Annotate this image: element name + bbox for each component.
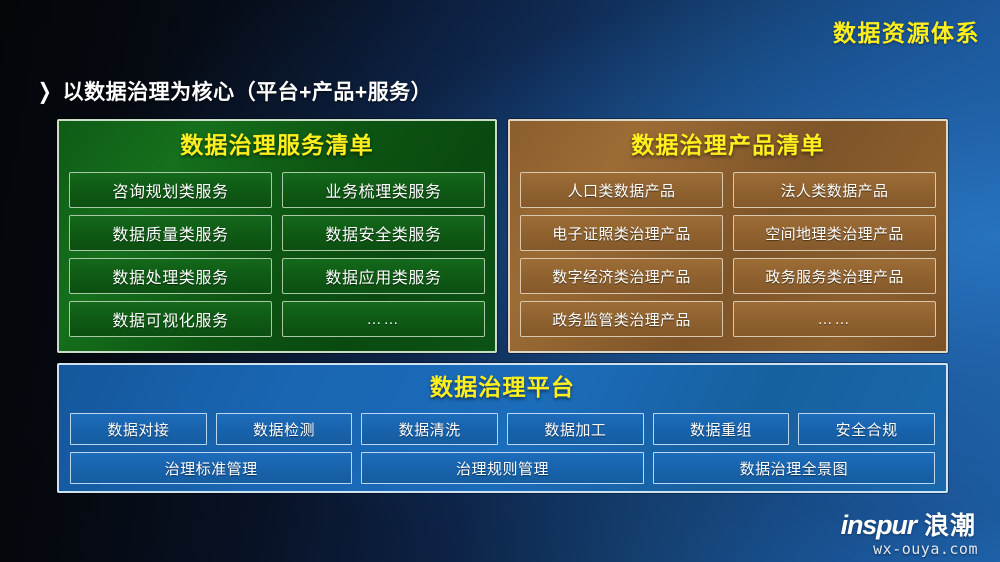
panel-platform-title: 数据治理平台: [59, 376, 946, 399]
product-item[interactable]: 空间地理类治理产品: [733, 215, 936, 251]
inspur-logo: inspur 浪潮: [841, 506, 976, 542]
watermark: wx-ouya.com: [873, 540, 978, 558]
service-item-more[interactable]: ……: [282, 301, 485, 337]
subtitle: ❯ 以数据治理为核心（平台+产品+服务）: [36, 76, 432, 106]
logo-wordmark: inspur: [841, 510, 916, 541]
service-item[interactable]: 业务梳理类服务: [282, 172, 485, 208]
product-item[interactable]: 人口类数据产品: [520, 172, 723, 208]
subtitle-label: 以数据治理为核心（平台+产品+服务）: [63, 76, 433, 106]
service-item[interactable]: 数据处理类服务: [69, 258, 272, 294]
panel-platform: 数据治理平台 数据对接 数据检测 数据清洗 数据加工 数据重组 安全合规 治理标…: [57, 363, 948, 493]
service-item[interactable]: 咨询规划类服务: [69, 172, 272, 208]
product-item[interactable]: 政务服务类治理产品: [733, 258, 936, 294]
platform-capability-item[interactable]: 数据清洗: [361, 413, 498, 445]
platform-management-item[interactable]: 治理标准管理: [70, 452, 352, 484]
service-item-grid: 咨询规划类服务 业务梳理类服务 数据质量类服务 数据安全类服务 数据处理类服务 …: [69, 172, 485, 337]
product-item[interactable]: 法人类数据产品: [733, 172, 936, 208]
panel-service-title: 数据治理服务清单: [59, 134, 495, 157]
product-item[interactable]: 电子证照类治理产品: [520, 215, 723, 251]
platform-capability-item[interactable]: 数据重组: [653, 413, 790, 445]
platform-management-row: 治理标准管理 治理规则管理 数据治理全景图: [70, 452, 935, 484]
product-item[interactable]: 数字经济类治理产品: [520, 258, 723, 294]
product-item-more[interactable]: ……: [733, 301, 936, 337]
service-item[interactable]: 数据质量类服务: [69, 215, 272, 251]
double-chevron-right-icon: ❯: [38, 80, 52, 102]
platform-capability-item[interactable]: 数据加工: [507, 413, 644, 445]
platform-capability-item[interactable]: 数据检测: [216, 413, 353, 445]
page-title: 数据资源体系: [833, 14, 980, 48]
product-item[interactable]: 政务监管类治理产品: [520, 301, 723, 337]
logo-chinese-name: 浪潮: [924, 506, 976, 542]
slide-canvas: 数据资源体系 ❯ 以数据治理为核心（平台+产品+服务） 数据治理服务清单 咨询规…: [0, 0, 1000, 562]
service-item[interactable]: 数据应用类服务: [282, 258, 485, 294]
service-item[interactable]: 数据安全类服务: [282, 215, 485, 251]
platform-capability-row: 数据对接 数据检测 数据清洗 数据加工 数据重组 安全合规: [70, 413, 935, 445]
product-item-grid: 人口类数据产品 法人类数据产品 电子证照类治理产品 空间地理类治理产品 数字经济…: [520, 172, 936, 337]
platform-capability-item[interactable]: 数据对接: [70, 413, 207, 445]
panel-product-title: 数据治理产品清单: [510, 134, 946, 157]
platform-capability-item[interactable]: 安全合规: [798, 413, 935, 445]
service-item[interactable]: 数据可视化服务: [69, 301, 272, 337]
platform-management-item[interactable]: 治理规则管理: [361, 452, 643, 484]
platform-management-item[interactable]: 数据治理全景图: [653, 452, 935, 484]
panel-service-list: 数据治理服务清单 咨询规划类服务 业务梳理类服务 数据质量类服务 数据安全类服务…: [57, 119, 497, 353]
panel-product-list: 数据治理产品清单 人口类数据产品 法人类数据产品 电子证照类治理产品 空间地理类…: [508, 119, 948, 353]
